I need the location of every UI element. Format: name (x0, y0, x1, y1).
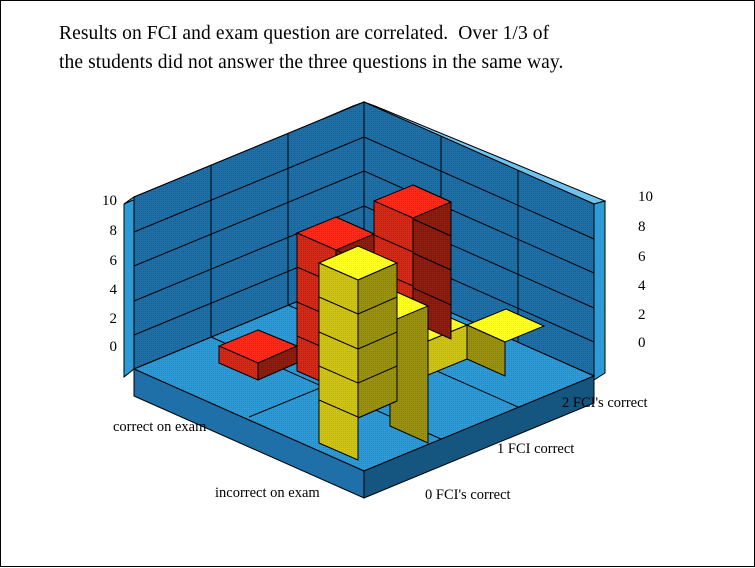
axis-left-tick-10: 10 (89, 193, 117, 210)
axis-right-tick-10: 10 (638, 189, 666, 206)
axis-left-tick-0: 0 (89, 339, 117, 356)
axis-left-tick-2: 2 (89, 311, 117, 328)
chart-area: 10 8 6 4 2 0 10 8 6 4 2 0 correct on exa… (1, 1, 755, 568)
series-label-correct-on-exam: correct on exam (113, 419, 206, 436)
category-label-0-fci: 0 FCI's correct (425, 487, 511, 504)
axis-left-tick-6: 6 (89, 253, 117, 270)
series-label-incorrect-on-exam: incorrect on exam (215, 485, 320, 502)
axis-left-tick-8: 8 (89, 223, 117, 240)
category-label-2-fci: 2 FCI's correct (562, 395, 648, 412)
axis-right-tick-8: 8 (638, 219, 666, 236)
axis-right-tick-2: 2 (638, 307, 666, 324)
axis-right-tick-0: 0 (638, 335, 666, 352)
axis-right-tick-6: 6 (638, 249, 666, 266)
chart-page: Results on FCI and exam question are cor… (0, 0, 755, 567)
axis-left-tick-4: 4 (89, 282, 117, 299)
category-label-1-fci: 1 FCI correct (497, 441, 574, 458)
axis-right-tick-4: 4 (638, 278, 666, 295)
